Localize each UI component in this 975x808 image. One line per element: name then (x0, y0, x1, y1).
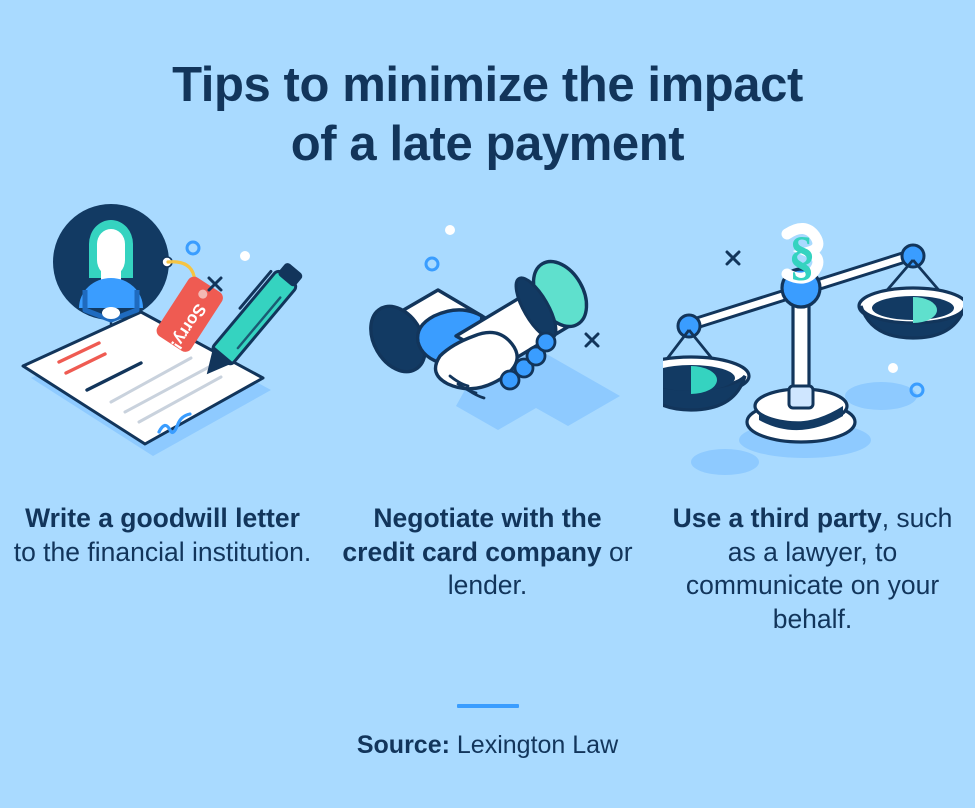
tip-column-goodwill-letter: Sorry! (0, 200, 325, 636)
infographic-canvas: Tips to minimize the impact of a late pa… (0, 0, 975, 808)
floor-blob-right (845, 382, 917, 410)
left-pan-pivot (678, 315, 700, 337)
decor-cross-icon (209, 278, 221, 290)
tips-columns: Sorry! (0, 200, 975, 636)
letter-signing-illustration: Sorry! (13, 200, 313, 480)
avatar-face (97, 229, 125, 276)
pen-icon (193, 258, 305, 383)
pen-body (210, 269, 297, 365)
tip-caption-goodwill-letter: Write a goodwill letter to the financial… (13, 502, 313, 569)
floor-blob-left (691, 449, 759, 475)
decor-cross-icon (586, 334, 598, 346)
right-pan-pivot (902, 245, 924, 267)
caption-rest-text: to the financial institution. (14, 537, 312, 567)
tip-column-third-party: § (650, 200, 975, 636)
decor-ring-icon (426, 258, 438, 270)
section-symbol-glyph: § (788, 226, 815, 286)
title-line-2: of a late payment (0, 115, 975, 174)
source-label: Source: (357, 731, 450, 759)
decor-dot-icon (240, 251, 250, 261)
scales-of-justice-illustration: § (663, 200, 963, 480)
tip-column-negotiate: Negotiate with the credit card company o… (325, 200, 650, 636)
footer-divider (457, 704, 519, 708)
tip-caption-negotiate: Negotiate with the credit card company o… (338, 502, 638, 603)
caption-bold-text: Write a goodwill letter (25, 503, 300, 533)
section-symbol-icon: § (787, 226, 818, 286)
source-footer: Source: Lexington Law (0, 704, 975, 760)
scales-pan-right (859, 245, 963, 338)
tip-caption-third-party: Use a third party, such as a lawyer, to … (663, 502, 963, 636)
avatar-hands (102, 307, 120, 319)
knuckle-bead-4 (537, 333, 555, 351)
scales-pan-left (663, 315, 749, 410)
title-line-1: Tips to minimize the impact (0, 56, 975, 115)
decor-ring-icon (187, 242, 199, 254)
page-title: Tips to minimize the impact of a late pa… (0, 56, 975, 174)
caption-bold-text: Negotiate with the credit card company (342, 503, 601, 567)
handshake-illustration (338, 200, 638, 480)
decor-dot-icon (445, 225, 455, 235)
scales-column-collar (789, 386, 813, 408)
decor-dot-icon (888, 363, 898, 373)
source-value: Lexington Law (450, 731, 618, 759)
caption-bold-text: Use a third party (673, 503, 882, 533)
source-text: Source: Lexington Law (0, 730, 975, 760)
decor-cross-icon (727, 252, 739, 264)
